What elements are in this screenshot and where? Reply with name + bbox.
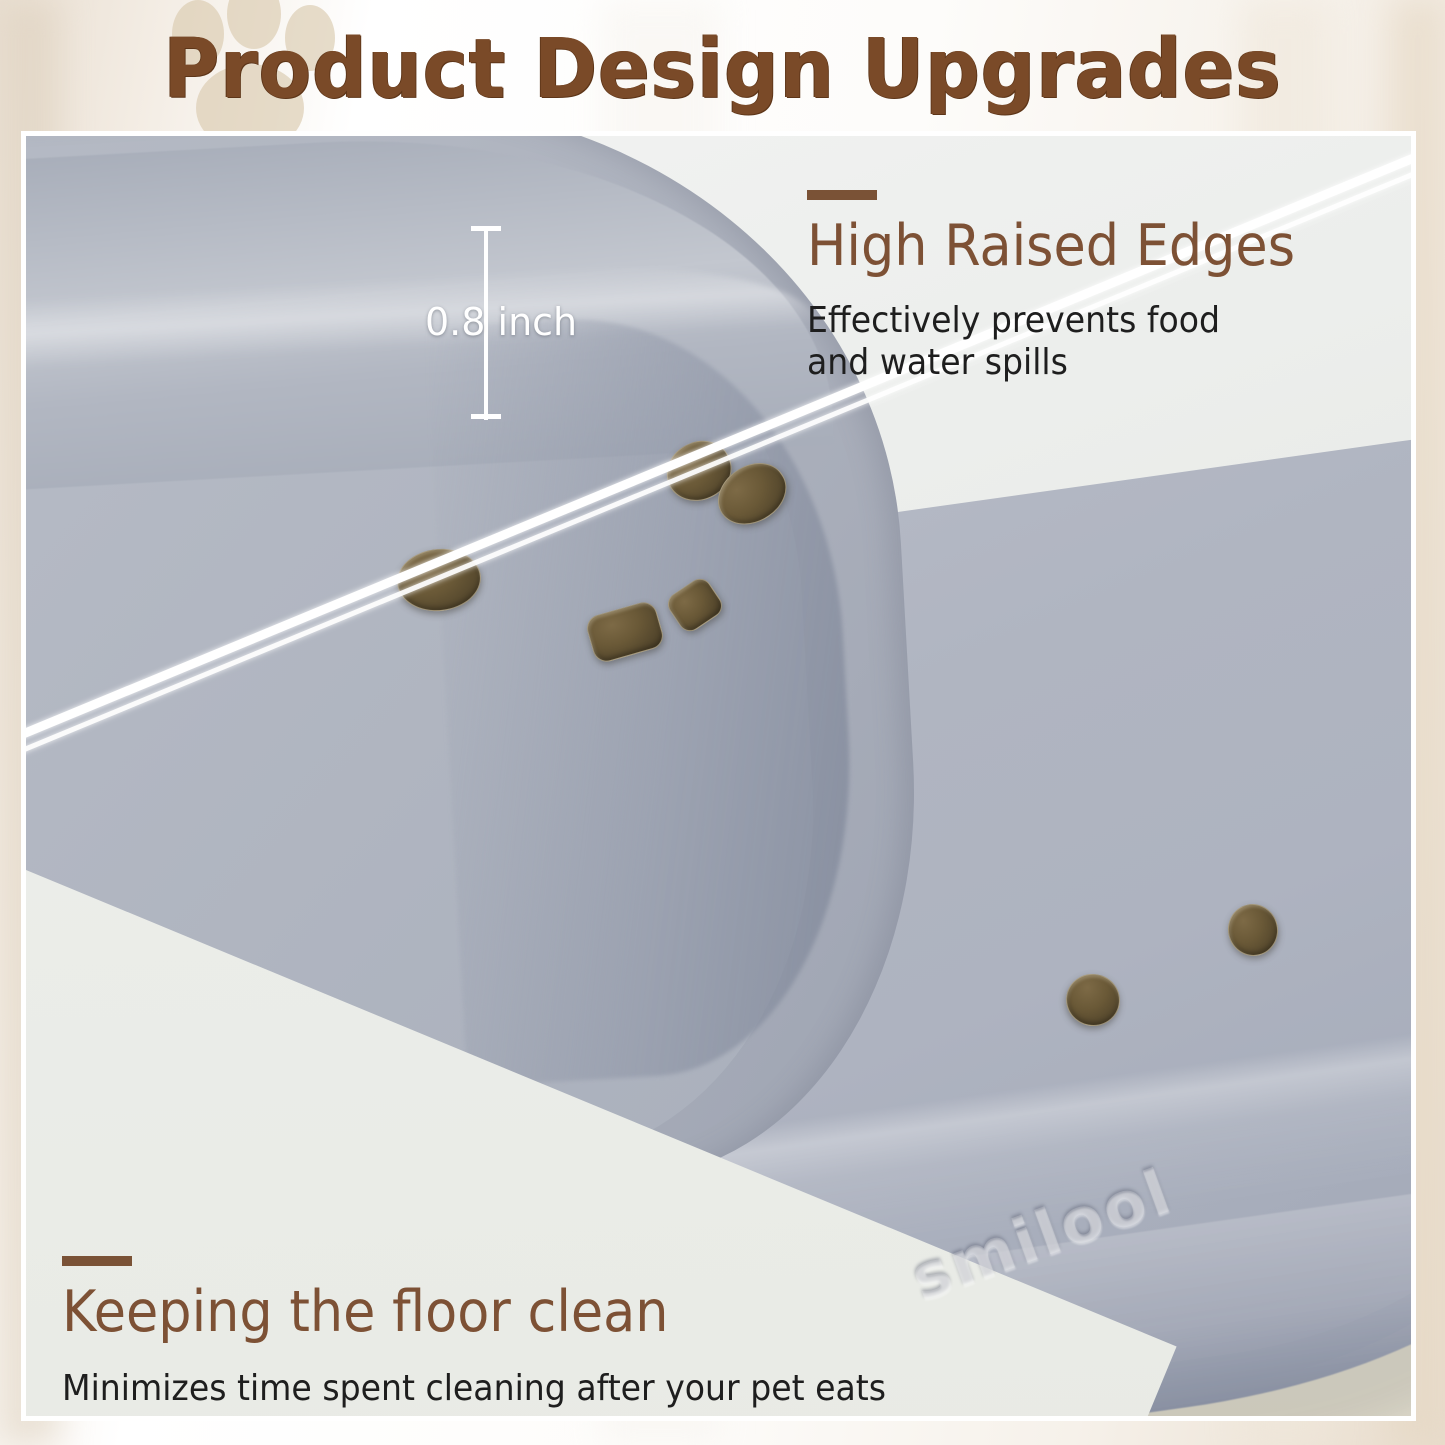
- callout-accent-bar-keeping-floor-clean: [62, 1256, 132, 1266]
- title-bar: Product Design Upgrades: [0, 0, 1445, 136]
- callout-accent-bar-high-raised-edges: [807, 190, 877, 200]
- infographic-canvas: Product Design Upgrades: [0, 0, 1445, 1445]
- callout-heading-high-raised-edges: High Raised Edges: [807, 213, 1295, 279]
- page-title: Product Design Upgrades: [51, 22, 1395, 117]
- callout-subtext-keeping-floor-clean: Minimizes time spent cleaning after your…: [62, 1368, 1166, 1410]
- dimension-label: 0.8 inch: [425, 300, 615, 344]
- dimension-annotation: 0.8 inch: [445, 222, 565, 432]
- callout-heading-keeping-floor-clean: Keeping the floor clean: [62, 1279, 669, 1345]
- callout-subtext-high-raised-edges: Effectively prevents food and water spil…: [807, 300, 1396, 385]
- dimension-cap-bottom: [471, 414, 501, 419]
